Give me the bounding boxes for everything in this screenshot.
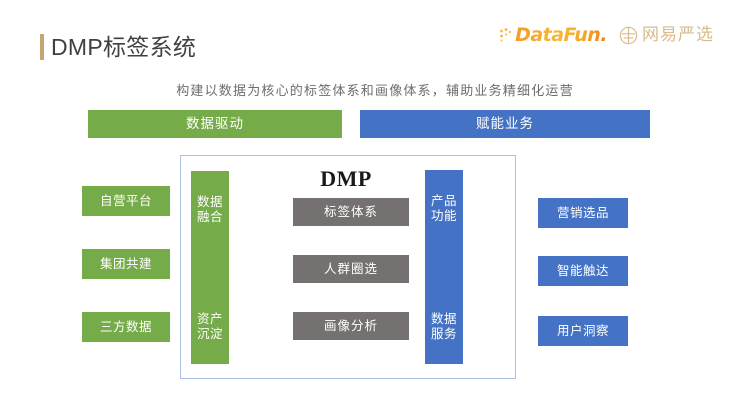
- dmp-pillar-right-top-line1: 产品: [431, 194, 457, 209]
- slide-subtitle: 构建以数据为核心的标签体系和画像体系，辅助业务精细化运营: [0, 80, 732, 99]
- dmp-heading: DMP: [246, 166, 446, 192]
- slide-canvas: DMP标签系统 DataFun. 网易严选 构建以数据为核心的标签体系和画像体系…: [0, 0, 732, 412]
- source-chip-third-party-data: 三方数据: [82, 312, 170, 342]
- page-title: DMP标签系统: [40, 32, 196, 62]
- dmp-pillar-left-bottom-line2: 沉淀: [197, 327, 223, 342]
- dmp-pillar-left-top-line2: 融合: [197, 210, 223, 225]
- application-chip-smart-reach: 智能触达: [538, 256, 628, 286]
- netease-yanxuan-logo: 网易严选: [619, 25, 714, 45]
- yanxuan-circle-icon: [619, 26, 638, 45]
- dmp-pillar-left-bottom-label: 资产 沉淀: [197, 312, 223, 342]
- banner-data-driven: 数据驱动: [88, 110, 342, 138]
- capability-audience-selection: 人群圈选: [293, 255, 409, 283]
- application-chip-marketing-selection: 营销选品: [538, 198, 628, 228]
- capability-tag-system: 标签体系: [293, 198, 409, 226]
- dmp-pillar-product-function: 产品 功能 数据 服务: [425, 170, 463, 364]
- datafun-dots-icon: [499, 27, 513, 43]
- source-chip-self-operated: 自营平台: [82, 186, 170, 216]
- dmp-pillar-left-top-line1: 数据: [197, 195, 223, 210]
- application-chip-user-insight: 用户洞察: [538, 316, 628, 346]
- capability-profile-analysis: 画像分析: [293, 312, 409, 340]
- datafun-wordmark: DataFun.: [515, 24, 607, 46]
- dmp-pillar-right-top-label: 产品 功能: [431, 194, 457, 224]
- datafun-logo: DataFun.: [499, 24, 607, 46]
- dmp-pillar-right-bottom-line1: 数据: [431, 312, 457, 327]
- logo-bar: DataFun. 网易严选: [499, 22, 714, 48]
- title-accent-bar: [40, 34, 44, 60]
- source-chip-group-cobuild: 集团共建: [82, 249, 170, 279]
- dmp-pillar-right-bottom-label: 数据 服务: [431, 312, 457, 342]
- dmp-pillar-data-fusion: 数据 融合 资产 沉淀: [191, 171, 229, 364]
- netease-yanxuan-wordmark: 网易严选: [642, 25, 714, 45]
- dmp-pillar-right-top-line2: 功能: [431, 209, 457, 224]
- dmp-pillar-left-top-label: 数据 融合: [197, 195, 223, 225]
- dmp-pillar-right-bottom-line2: 服务: [431, 327, 457, 342]
- page-title-text: DMP标签系统: [51, 34, 196, 60]
- dmp-pillar-left-bottom-line1: 资产: [197, 312, 223, 327]
- banner-empower-business: 赋能业务: [360, 110, 650, 138]
